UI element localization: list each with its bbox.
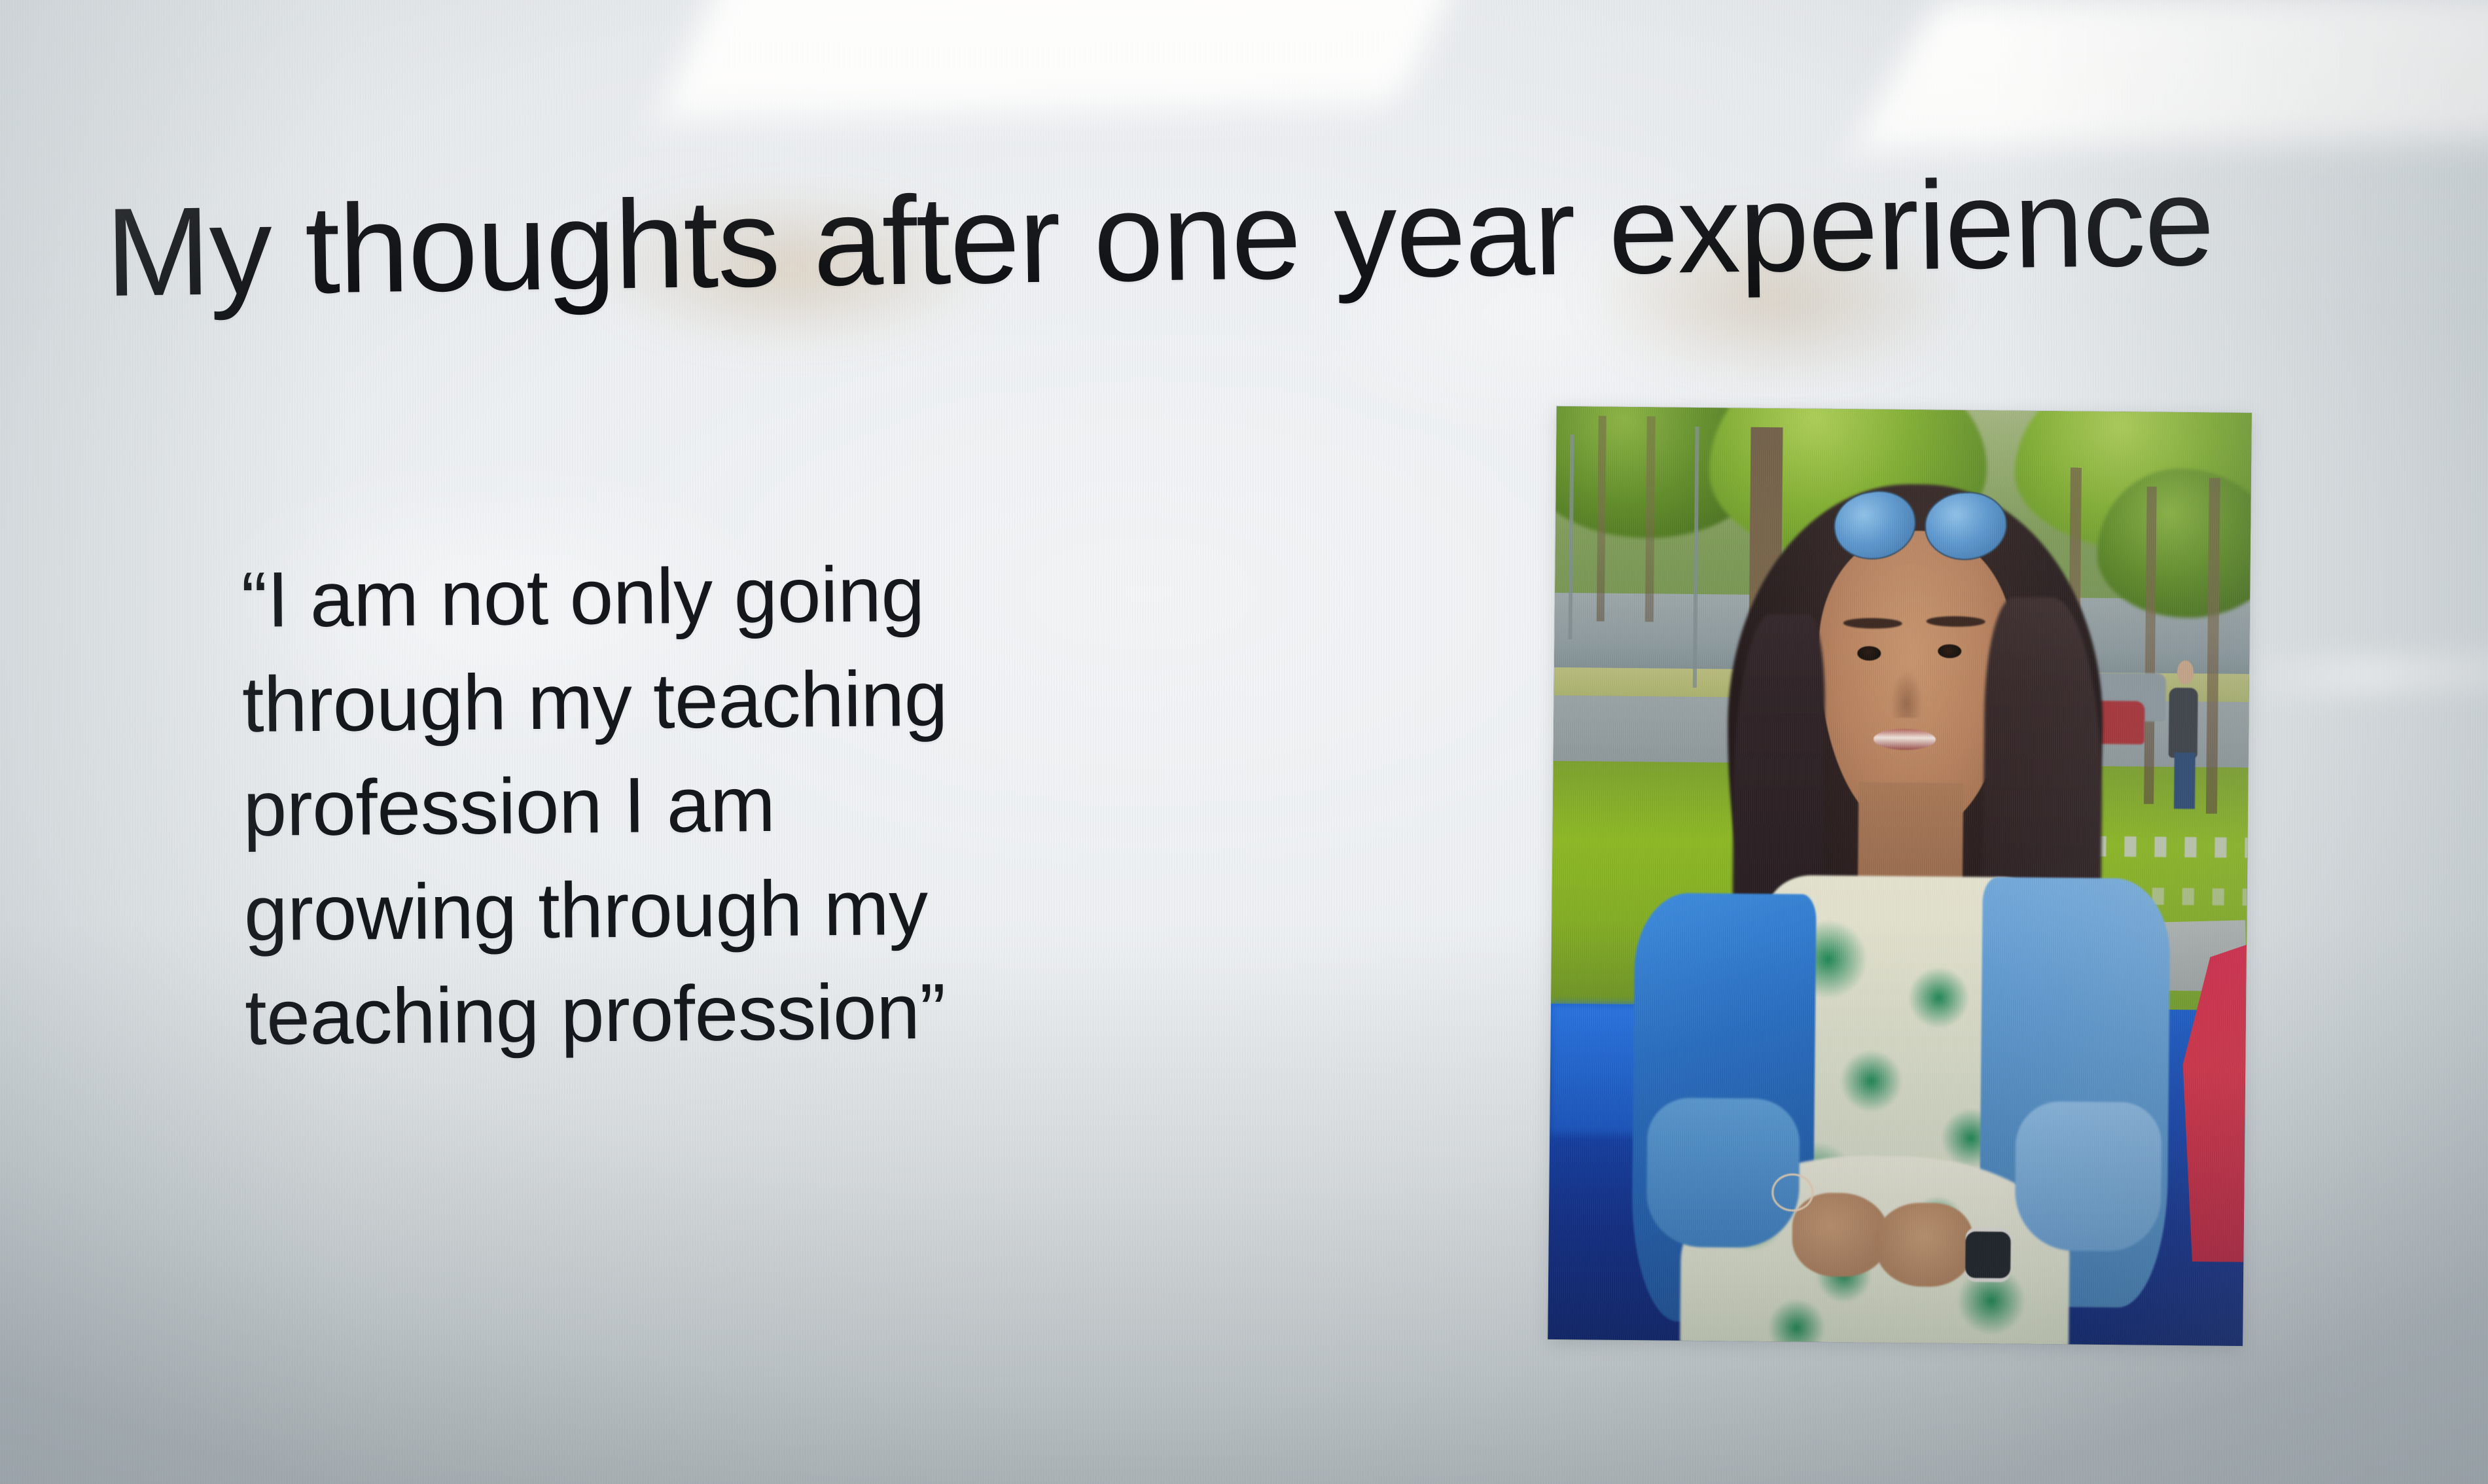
woman-smartwatch xyxy=(1965,1231,2011,1279)
sunglasses-on-head xyxy=(1833,491,2007,557)
woman-hand-right xyxy=(1875,1203,1973,1288)
quote-line-1: “I am not only going xyxy=(241,540,1105,652)
denim-sleeve-left xyxy=(1646,1098,1800,1248)
quote-line-5: teaching profession” xyxy=(245,959,1109,1070)
quote-line-3: profession I am xyxy=(243,750,1107,862)
woman-bracelet xyxy=(1771,1173,1814,1211)
slide-title: My thoughts after one year experience xyxy=(105,154,2279,319)
woman-nose xyxy=(1891,671,1922,718)
photo-seated-woman xyxy=(1548,406,2252,1346)
sunglasses-lens-right xyxy=(1923,491,2008,562)
denim-sleeve-right xyxy=(2014,1101,2161,1252)
sunglasses-lens-left xyxy=(1829,486,1921,565)
photo-content xyxy=(1548,406,2252,1346)
quote-line-4: growing through my xyxy=(243,854,1108,966)
woman-eye-left xyxy=(1857,646,1881,661)
projected-slide-photo: My thoughts after one year experience “I… xyxy=(0,0,2488,1484)
slide-photo xyxy=(1548,406,2252,1346)
slide-quote-block: “I am not only going through my teaching… xyxy=(241,540,1109,1070)
quote-line-2: through my teaching xyxy=(241,645,1106,757)
